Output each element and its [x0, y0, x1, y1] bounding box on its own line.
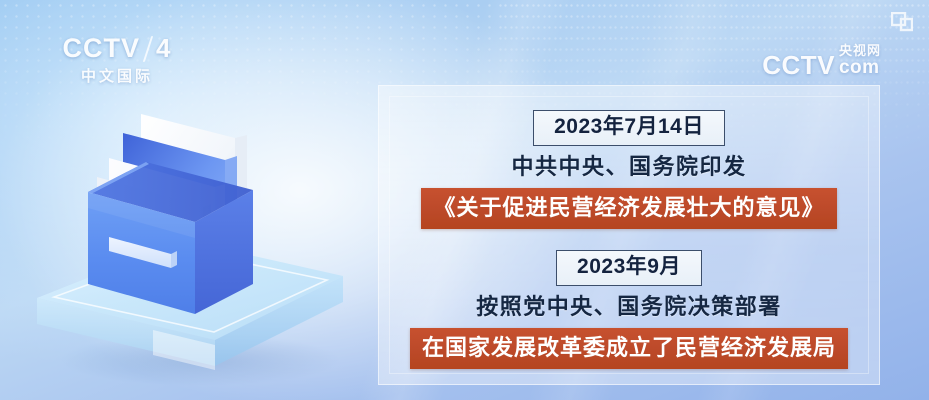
watermark-stack: 央视网 com — [839, 44, 881, 77]
channel-logo-cctv4: CCTV 4 中文国际 — [47, 33, 187, 85]
date-badge-2: 2023年9月 — [556, 250, 702, 286]
channel-logo-number: 4 — [156, 33, 171, 64]
date-badge-1: 2023年7月14日 — [533, 110, 725, 146]
policy-banner-2: 在国家发展改革委成立了民营经济发展局 — [410, 328, 848, 370]
watermark-mark: CCTV — [762, 52, 835, 78]
policy-banner-1: 《关于促进民营经济发展壮大的意见》 — [421, 188, 836, 230]
timeline-block-1: 2023年7月14日 中共中央、国务院印发 《关于促进民营经济发展壮大的意见》 — [378, 110, 880, 229]
subheading-2: 按照党中央、国务院决策部署 — [378, 293, 880, 322]
watermark-com-label: com — [839, 58, 881, 77]
channel-logo-subtitle: 中文国际 — [47, 65, 187, 86]
watermark-cctv-com: CCTV 央视网 com — [762, 44, 881, 78]
document-file-box-illustration — [25, 98, 365, 388]
watermark-cn-label: 央视网 — [839, 44, 881, 57]
subheading-1: 中共中央、国务院印发 — [378, 153, 880, 182]
timeline-block-2: 2023年9月 按照党中央、国务院决策部署 在国家发展改革委成立了民营经济发展局 — [378, 250, 880, 369]
broadcast-graphic-stage: CCTV 4 中文国际 CCTV 央视网 com — [0, 0, 929, 400]
window-restore-icon — [891, 12, 913, 32]
channel-logo-slash-icon — [143, 36, 153, 62]
channel-logo-row: CCTV 4 — [47, 33, 187, 64]
channel-logo-name: CCTV — [63, 33, 141, 64]
